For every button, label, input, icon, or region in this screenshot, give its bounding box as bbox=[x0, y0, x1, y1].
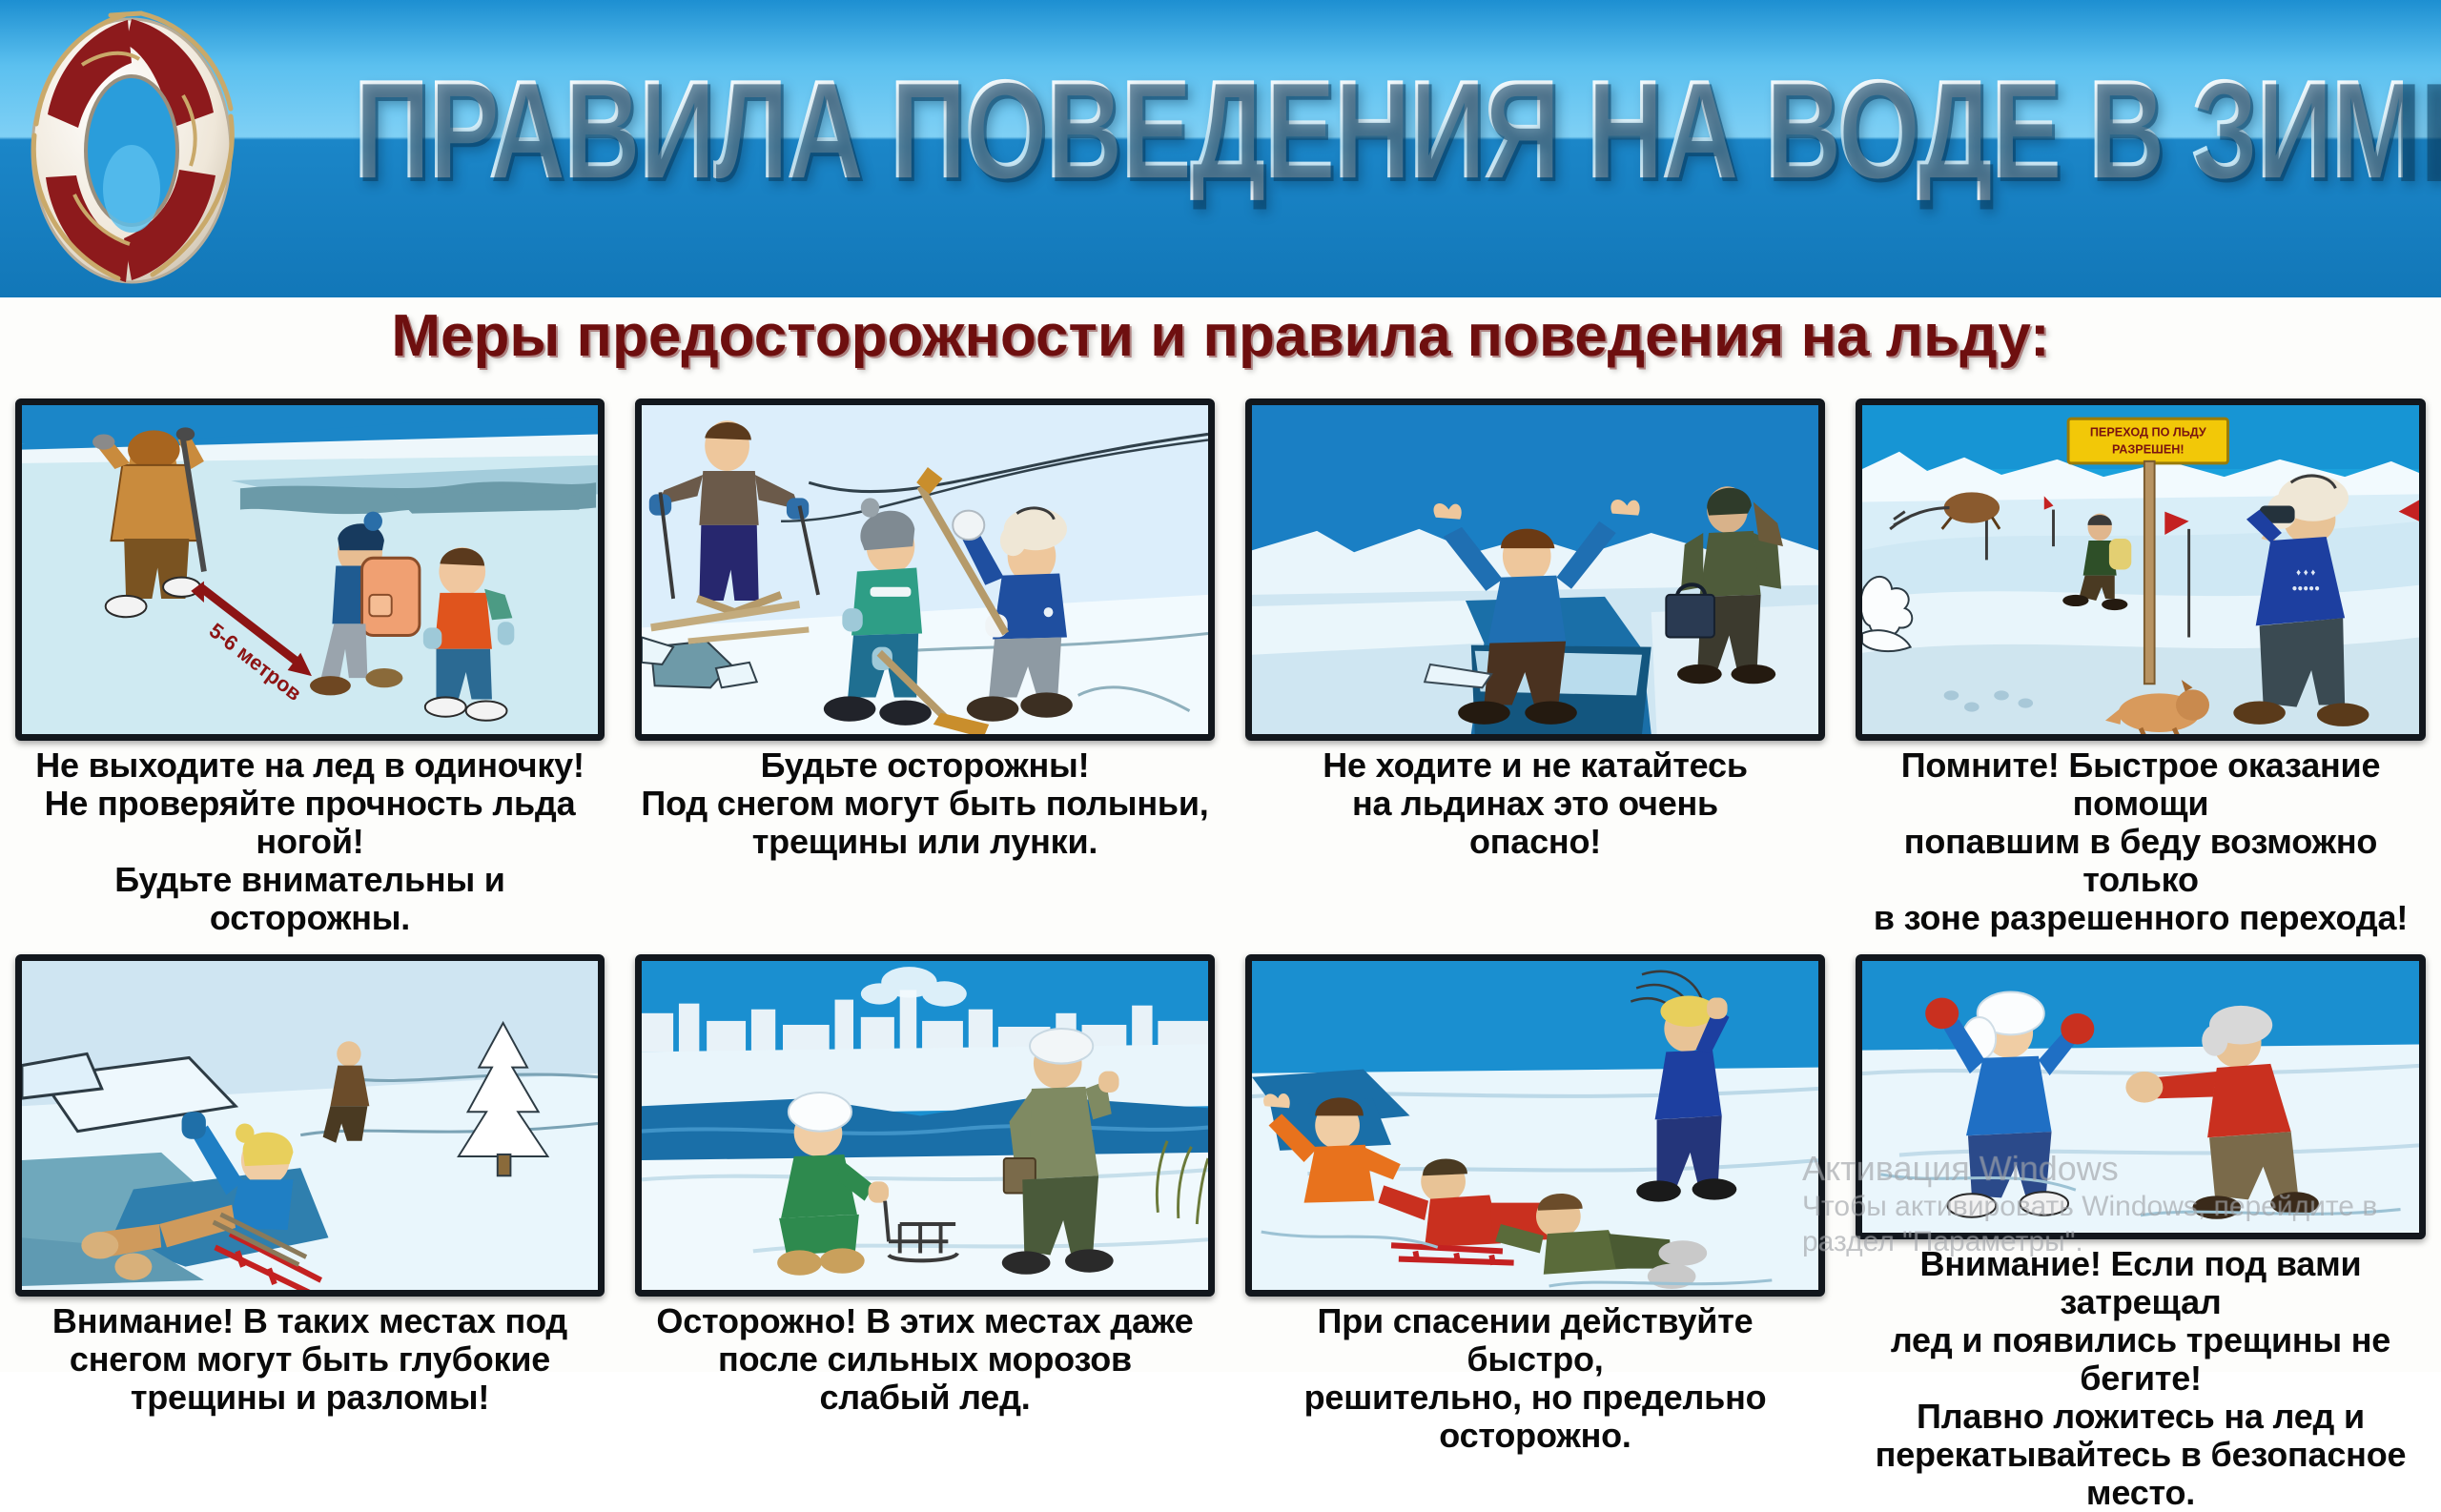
panel-caption: Помните! Быстрое оказание помощи попавши… bbox=[1856, 741, 2426, 937]
panel-rescue-fast bbox=[1245, 954, 1825, 1297]
svg-text:РАЗРЕШЕН!: РАЗРЕШЕН! bbox=[2112, 441, 2185, 456]
page-title: ПРАВИЛА ПОВЕДЕНИЯ НА ВОДЕ В ЗИМНЕЕ ВРЕМЯ bbox=[353, 59, 2403, 200]
panel-alone-on-ice: 5-6 метров bbox=[15, 398, 605, 741]
poster-header: ПРАВИЛА ПОВЕДЕНИЯ НА ВОДЕ В ЗИМНЕЕ ВРЕМЯ bbox=[0, 0, 2441, 297]
svg-text:●●●●●: ●●●●● bbox=[2292, 583, 2320, 594]
panel-cell-6: Осторожно! В этих местах даже после силь… bbox=[620, 954, 1230, 1512]
panel-row-2: Внимание! В таких местах под снегом могу… bbox=[0, 954, 2441, 1512]
panel-cell-2: Будьте осторожны! Под снегом могут быть … bbox=[620, 398, 1230, 937]
panel-caption: Осторожно! В этих местах даже после силь… bbox=[635, 1297, 1215, 1417]
svg-text:ПЕРЕХОД ПО ЛЬДУ: ПЕРЕХОД ПО ЛЬДУ bbox=[2090, 424, 2207, 439]
panel-deep-cracks bbox=[15, 954, 605, 1297]
life-buoy-icon bbox=[19, 8, 305, 284]
poster-subtitle: Меры предосторожности и правила поведени… bbox=[0, 303, 2441, 370]
panel-caption: Не выходите на лед в одиночку! Не провер… bbox=[15, 741, 605, 937]
panel-authorized-crossing: ПЕРЕХОД ПО ЛЬДУ РАЗРЕШЕН! bbox=[1856, 398, 2426, 741]
svg-text:♦ ♦ ♦: ♦ ♦ ♦ bbox=[2296, 567, 2315, 578]
panel-caption: Будьте осторожны! Под снегом могут быть … bbox=[635, 741, 1215, 861]
panel-row-1: 5-6 метров bbox=[0, 398, 2441, 937]
panel-lie-down-and-roll bbox=[1856, 954, 2426, 1239]
panel-cell-8: Внимание! Если под вами затрещал лед и п… bbox=[1840, 954, 2441, 1512]
panel-cell-7: При спасении действуйте быстро, решитель… bbox=[1230, 954, 1840, 1512]
poster-root: ПРАВИЛА ПОВЕДЕНИЯ НА ВОДЕ В ЗИМНЕЕ ВРЕМЯ… bbox=[0, 0, 2441, 1372]
panel-cell-3: Не ходите и не катайтесь на льдинах это … bbox=[1230, 398, 1840, 937]
panel-no-ice-floes bbox=[1245, 398, 1825, 741]
panel-cell-4: ПЕРЕХОД ПО ЛЬДУ РАЗРЕШЕН! bbox=[1840, 398, 2441, 937]
panel-weak-ice bbox=[635, 954, 1215, 1297]
panel-snow-hides-holes bbox=[635, 398, 1215, 741]
panel-cell-1: 5-6 метров bbox=[0, 398, 620, 937]
panel-cell-5: Внимание! В таких местах под снегом могу… bbox=[0, 954, 620, 1512]
panel-caption: Внимание! В таких местах под снегом могу… bbox=[15, 1297, 605, 1417]
panel-caption: Внимание! Если под вами затрещал лед и п… bbox=[1856, 1239, 2426, 1512]
panel-grid: 5-6 метров bbox=[0, 398, 2441, 1512]
panel-caption: При спасении действуйте быстро, решитель… bbox=[1245, 1297, 1825, 1455]
panel-caption: Не ходите и не катайтесь на льдинах это … bbox=[1245, 741, 1825, 861]
